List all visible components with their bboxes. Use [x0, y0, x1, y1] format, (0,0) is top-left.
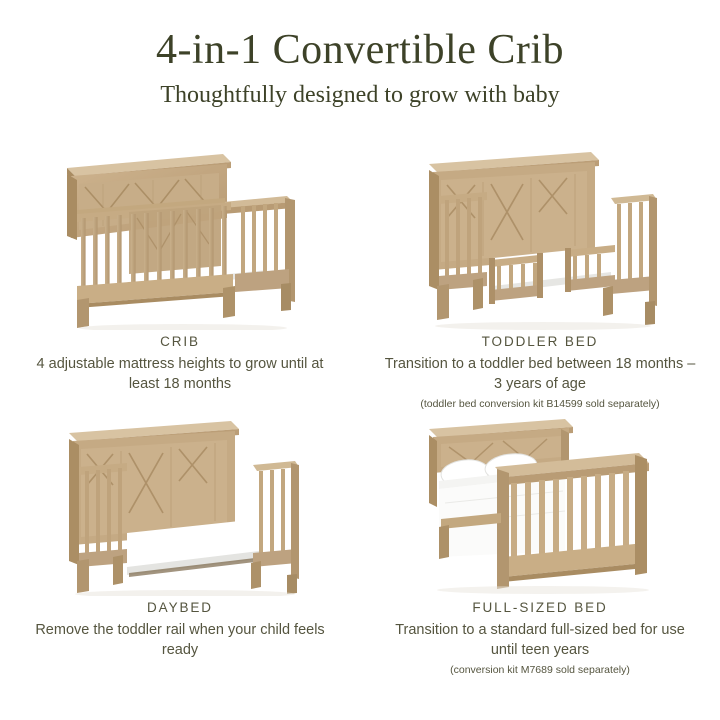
toddler-bed-caption: TODDLER BED Transition to a toddler bed … [380, 334, 700, 411]
toddler-bed-illustration [415, 140, 665, 330]
full-sized-bed-illustration [415, 411, 665, 596]
stages-grid: CRIB 4 adjustable mattress heights to gr… [0, 140, 720, 677]
stage-daybed: DAYBED Remove the toddler rail when your… [0, 411, 360, 677]
stage-full-sized-bed: FULL-SIZED BED Transition to a standard … [360, 411, 720, 677]
daybed-figure [30, 411, 330, 596]
daybed-illustration [55, 411, 305, 596]
full-sized-bed-fine-print: (conversion kit M7689 sold separately) [380, 663, 700, 677]
page-title: 4-in-1 Convertible Crib [0, 28, 720, 72]
daybed-description: Remove the toddler rail when your child … [20, 620, 340, 660]
crib-label: CRIB [20, 334, 340, 349]
crib-caption: CRIB 4 adjustable mattress heights to gr… [20, 334, 340, 394]
toddler-bed-figure [390, 140, 690, 330]
full-sized-bed-figure [390, 411, 690, 596]
crib-description: 4 adjustable mattress heights to grow un… [20, 354, 340, 394]
header: 4-in-1 Convertible Crib Thoughtfully des… [0, 0, 720, 108]
daybed-caption: DAYBED Remove the toddler rail when your… [20, 600, 340, 660]
toddler-bed-label: TODDLER BED [380, 334, 700, 349]
crib-illustration [55, 140, 305, 330]
toddler-bed-fine-print: (toddler bed conversion kit B14599 sold … [380, 397, 700, 411]
full-sized-bed-label: FULL-SIZED BED [380, 600, 700, 615]
crib-figure [30, 140, 330, 330]
full-sized-bed-caption: FULL-SIZED BED Transition to a standard … [380, 600, 700, 677]
stage-toddler-bed: TODDLER BED Transition to a toddler bed … [360, 140, 720, 411]
toddler-bed-description: Transition to a toddler bed between 18 m… [380, 354, 700, 394]
full-sized-bed-description: Transition to a standard full-sized bed … [380, 620, 700, 660]
daybed-label: DAYBED [20, 600, 340, 615]
stage-crib: CRIB 4 adjustable mattress heights to gr… [0, 140, 360, 411]
infographic-page: 4-in-1 Convertible Crib Thoughtfully des… [0, 0, 720, 720]
page-subtitle: Thoughtfully designed to grow with baby [0, 82, 720, 108]
